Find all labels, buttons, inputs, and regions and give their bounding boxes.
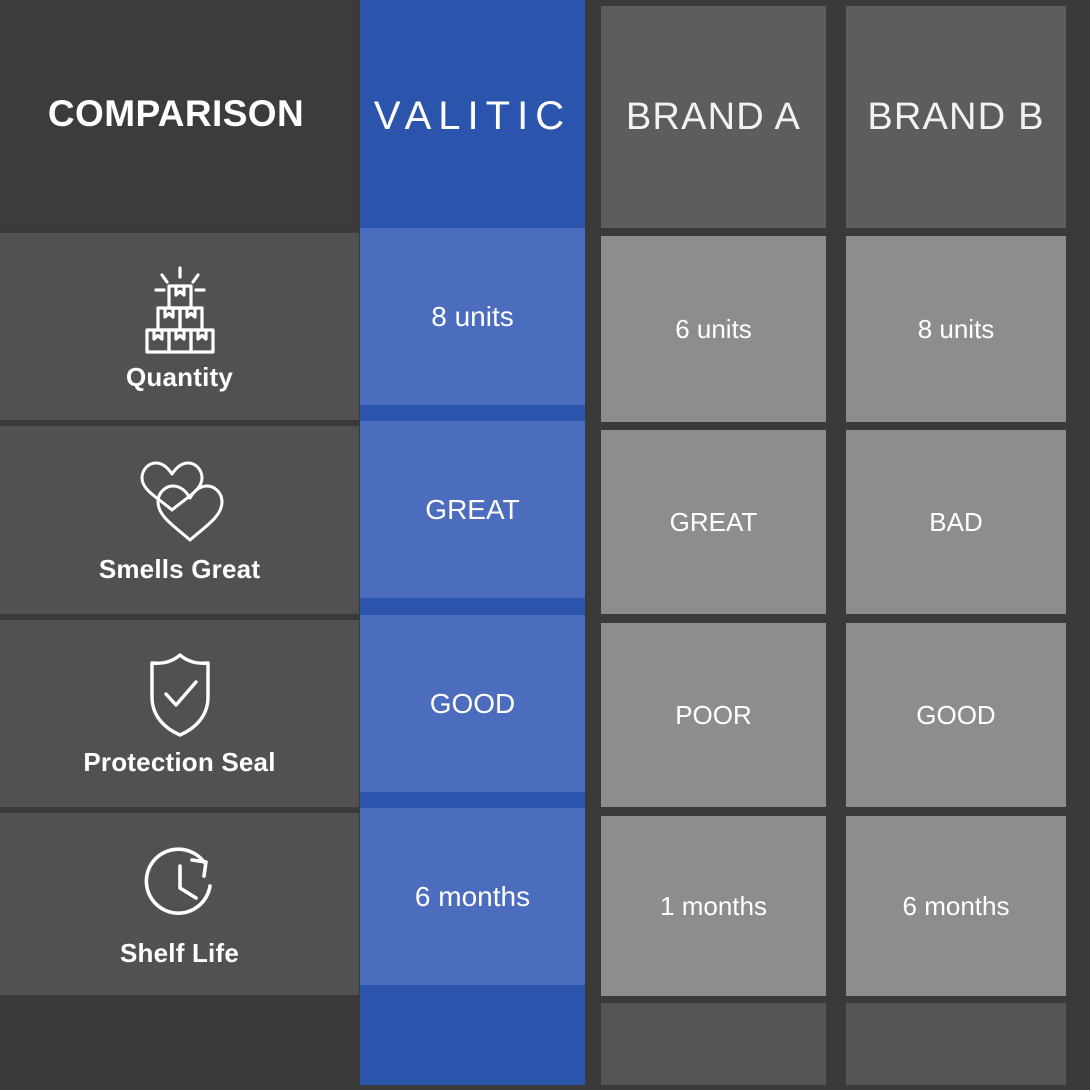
footer-cell-brand-b: [846, 1003, 1066, 1085]
value-brand-b-smells-great: BAD: [846, 430, 1066, 614]
boxes-stack-icon: [132, 260, 228, 356]
row-label-text: Shelf Life: [120, 938, 239, 969]
column-header-brand-a: BRAND A: [601, 6, 826, 228]
row-label-shelf-life: Shelf Life: [0, 813, 359, 995]
value-valitic-smells-great: GREAT: [360, 421, 585, 598]
column-header-valitic: VALITIC: [360, 4, 585, 228]
value-valitic-protection-seal: GOOD: [360, 615, 585, 792]
value-valitic-shelf-life: 6 months: [360, 808, 585, 985]
clock-rotate-icon: [134, 840, 226, 932]
value-brand-b-quantity: 8 units: [846, 236, 1066, 422]
value-brand-a-shelf-life: 1 months: [601, 816, 826, 996]
two-hearts-icon: [128, 456, 232, 548]
value-brand-b-shelf-life: 6 months: [846, 816, 1066, 996]
value-brand-a-smells-great: GREAT: [601, 430, 826, 614]
row-label-smells-great: Smells Great: [0, 426, 359, 614]
column-header-brand-b: BRAND B: [846, 6, 1066, 228]
row-label-quantity: Quantity: [0, 233, 359, 420]
value-brand-a-protection-seal: POOR: [601, 623, 826, 807]
value-brand-b-protection-seal: GOOD: [846, 623, 1066, 807]
footer-cell-brand-a: [601, 1003, 826, 1085]
value-brand-a-quantity: 6 units: [601, 236, 826, 422]
page-title: COMPARISON: [0, 0, 352, 228]
row-label-protection-seal: Protection Seal: [0, 620, 359, 807]
shield-check-icon: [136, 649, 224, 741]
value-valitic-quantity: 8 units: [360, 228, 585, 405]
comparison-table: COMPARISON VALITIC BRAND A BRAND B: [0, 0, 1090, 1090]
row-label-text: Protection Seal: [83, 747, 275, 778]
footer-cell-valitic: [360, 995, 585, 1085]
row-label-text: Smells Great: [99, 554, 260, 585]
row-label-text: Quantity: [126, 362, 233, 393]
